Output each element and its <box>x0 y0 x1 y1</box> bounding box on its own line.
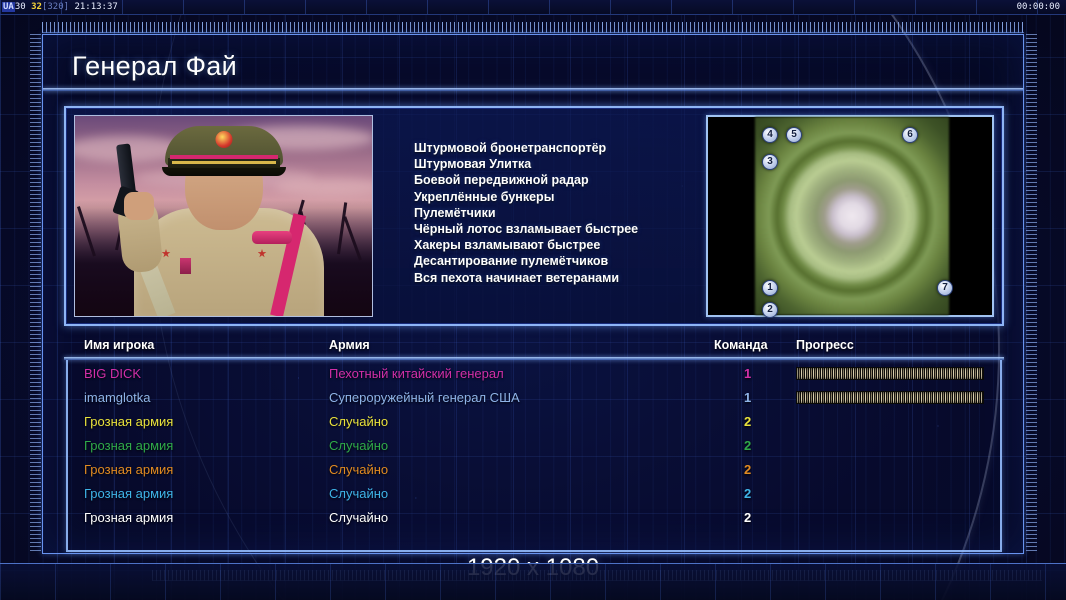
ability-item: Штурмовой бронетранспортёр <box>414 140 704 156</box>
general-abilities-list: Штурмовой бронетранспортёр Штурмовая Ули… <box>414 140 704 286</box>
game-lobby-screen: UA30 32[320] 21:13:37 00:00:00 Генерал Ф… <box>0 0 1066 600</box>
ability-item: Вся пехота начинает ветеранами <box>414 270 704 286</box>
start-position-label: 4 <box>767 129 773 140</box>
column-header-army: Армия <box>329 338 370 352</box>
start-position-marker[interactable]: 7 <box>937 280 953 296</box>
player-name: BIG DICK <box>84 362 141 386</box>
player-table-body: BIG DICKПехотный китайский генерал1imamg… <box>64 362 1004 530</box>
column-header-team: Команда <box>714 338 768 352</box>
ability-item: Штурмовая Улитка <box>414 156 704 172</box>
title-divider <box>43 88 1023 91</box>
stat-value-1: 30 <box>15 2 26 12</box>
player-progress <box>796 511 984 524</box>
clock-text: 21:13:37 <box>74 2 117 12</box>
player-progress <box>796 415 984 428</box>
cap-brim <box>162 167 286 176</box>
start-position-marker[interactable]: 2 <box>762 302 778 318</box>
start-position-marker[interactable]: 3 <box>762 154 778 170</box>
column-header-name: Имя игрока <box>84 338 154 352</box>
player-team: 1 <box>744 386 751 410</box>
player-name: Грозная армия <box>84 410 173 434</box>
player-army: Случайно <box>329 506 388 530</box>
player-name: Грозная армия <box>84 482 173 506</box>
player-team: 2 <box>744 458 751 482</box>
player-name: Грозная армия <box>84 458 173 482</box>
table-row[interactable]: Грозная армияСлучайно2 <box>64 434 1004 458</box>
cap-pink-stripe <box>170 155 278 159</box>
player-team: 2 <box>744 410 751 434</box>
player-army: Пехотный китайский генерал <box>329 362 504 386</box>
elapsed-timer: 00:00:00 <box>1017 1 1060 14</box>
stat-value-2: 32 <box>31 2 42 12</box>
player-team: 2 <box>744 434 751 458</box>
progress-bar <box>796 391 984 404</box>
general-portrait <box>74 115 373 317</box>
table-row[interactable]: Грозная армияСлучайно2 <box>64 410 1004 434</box>
table-row[interactable]: BIG DICKПехотный китайский генерал1 <box>64 362 1004 386</box>
ability-item: Десантирование пулемётчиков <box>414 253 704 269</box>
table-row[interactable]: Грозная армияСлучайно2 <box>64 506 1004 530</box>
player-team: 2 <box>744 506 751 530</box>
ruler-strip-top <box>42 22 1024 33</box>
table-row[interactable]: imamglotkaСупероружейный генерал США1 <box>64 386 1004 410</box>
ability-item: Пулемётчики <box>414 205 704 221</box>
connection-status: UA30 32[320] 21:13:37 <box>2 1 118 14</box>
ruler-strip-left <box>30 34 41 554</box>
player-army: Случайно <box>329 410 388 434</box>
start-position-marker[interactable]: 4 <box>762 127 778 143</box>
player-name: Грозная армия <box>84 506 173 530</box>
cap-badge-icon <box>215 131 232 148</box>
start-position-label: 7 <box>942 282 948 293</box>
general-info-panel: Штурмовой бронетранспортёр Штурмовая Ули… <box>64 106 1004 326</box>
ability-item: Хакеры взламывают быстрее <box>414 237 704 253</box>
column-header-progress: Прогресс <box>796 338 854 352</box>
player-progress <box>796 463 984 476</box>
player-army: Случайно <box>329 434 388 458</box>
player-progress <box>796 487 984 500</box>
medal-icon <box>180 258 191 274</box>
region-tag: UA <box>2 2 15 12</box>
player-progress <box>796 439 984 452</box>
start-position-label: 1 <box>767 282 773 293</box>
table-row[interactable]: Грозная армияСлучайно2 <box>64 458 1004 482</box>
table-row[interactable]: Грозная армияСлучайно2 <box>64 482 1004 506</box>
minimap-terrain <box>755 117 949 315</box>
ruler-strip-right <box>1026 34 1037 554</box>
start-position-label: 3 <box>767 156 773 167</box>
player-army: Случайно <box>329 482 388 506</box>
player-name: imamglotka <box>84 386 150 410</box>
epaulet-right <box>252 231 292 244</box>
stat-value-3: [320] <box>42 2 69 12</box>
start-position-label: 6 <box>907 129 913 140</box>
player-table-header: Имя игрока Армия Команда Прогресс <box>64 338 1004 358</box>
player-name: Грозная армия <box>84 434 173 458</box>
start-position-marker[interactable]: 5 <box>786 127 802 143</box>
top-status-bar: UA30 32[320] 21:13:37 00:00:00 <box>0 0 1066 15</box>
player-progress <box>796 367 984 380</box>
start-position-marker[interactable]: 6 <box>902 127 918 143</box>
player-army: Случайно <box>329 458 388 482</box>
progress-bar <box>796 367 984 380</box>
start-position-label: 5 <box>791 129 797 140</box>
bottom-bar-grid <box>0 564 1066 600</box>
minimap[interactable]: 4 5 6 3 1 7 2 <box>706 115 994 317</box>
bottom-status-bar <box>0 563 1066 600</box>
cap-gold-cord <box>172 161 276 164</box>
top-bar-grid <box>0 0 1066 14</box>
general-hand <box>124 192 154 220</box>
ability-item: Чёрный лотос взламывает быстрее <box>414 221 704 237</box>
player-progress <box>796 391 984 404</box>
minimap-noise <box>755 117 949 315</box>
player-team: 1 <box>744 362 751 386</box>
start-position-marker[interactable]: 1 <box>762 280 778 296</box>
page-title: Генерал Фай <box>72 46 972 86</box>
start-position-label: 2 <box>767 304 773 315</box>
player-army: Супероружейный генерал США <box>329 386 520 410</box>
ability-item: Укреплённые бункеры <box>414 189 704 205</box>
player-team: 2 <box>744 482 751 506</box>
ability-item: Боевой передвижной радар <box>414 172 704 188</box>
